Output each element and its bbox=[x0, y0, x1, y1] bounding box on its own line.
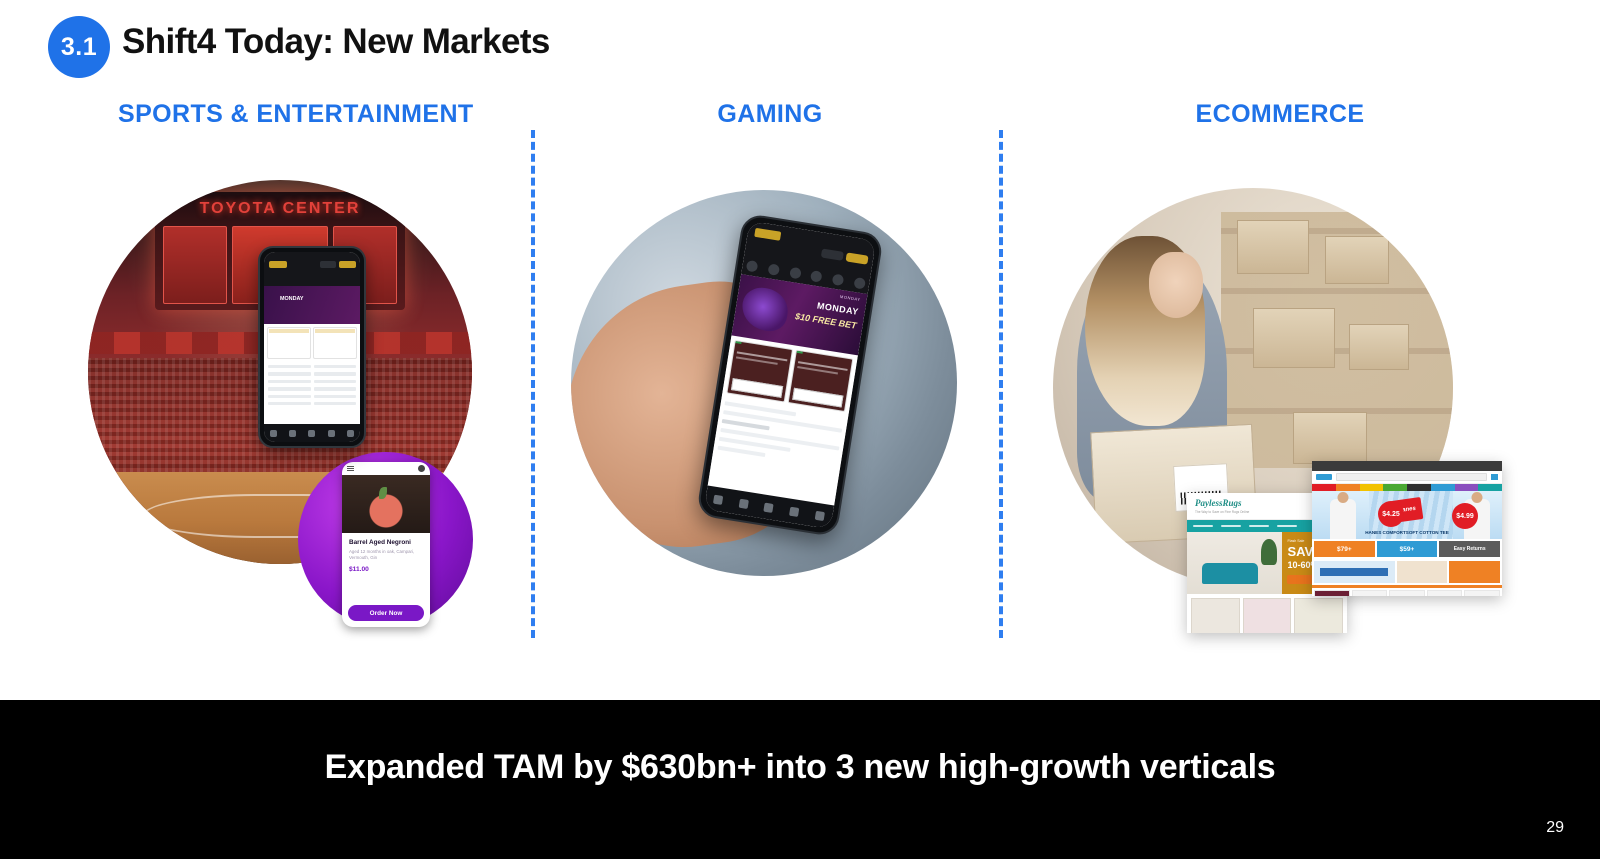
promo-headline: MONDAY bbox=[280, 296, 303, 302]
avatar-icon[interactable] bbox=[418, 465, 425, 472]
product-tile[interactable] bbox=[1427, 590, 1463, 596]
login-button[interactable] bbox=[821, 248, 844, 260]
column-divider-left bbox=[531, 130, 535, 638]
price-badge-left: $4.25 bbox=[1378, 501, 1404, 527]
live-tag bbox=[735, 341, 741, 344]
sport-icon[interactable] bbox=[810, 270, 823, 283]
apparel-logo-icon bbox=[1316, 474, 1332, 480]
nav-item[interactable] bbox=[1277, 525, 1297, 528]
promo-artwork bbox=[739, 285, 791, 334]
section-number-badge: 3.1 bbox=[48, 16, 110, 78]
easy-returns-badge: Easy Returns bbox=[1439, 541, 1500, 557]
product-tile[interactable] bbox=[1389, 590, 1425, 596]
home-icon[interactable] bbox=[270, 430, 277, 437]
bet-button[interactable] bbox=[792, 388, 844, 408]
menu-item[interactable] bbox=[314, 372, 357, 375]
rugs-logo: PaylessRugs bbox=[1195, 498, 1242, 508]
sport-icon[interactable] bbox=[746, 260, 759, 273]
order-app-phone: Barrel Aged Negroni Aged 12 months in oa… bbox=[342, 462, 430, 627]
product-tile[interactable] bbox=[1352, 590, 1388, 596]
sportsbook-screen-secondary: MONDAY bbox=[264, 252, 360, 442]
account-icon[interactable] bbox=[789, 506, 799, 516]
apparel-hero: Hanes $4.25 $4.99 HANES COMFORTSOFT COTT… bbox=[1312, 491, 1502, 539]
sport-icon[interactable] bbox=[767, 263, 780, 276]
sport-icon[interactable] bbox=[853, 277, 866, 290]
bets-icon[interactable] bbox=[764, 502, 774, 512]
list-row bbox=[717, 446, 765, 457]
menu-item[interactable] bbox=[314, 387, 357, 390]
column-heading-gaming: GAMING bbox=[570, 100, 970, 129]
bet-button[interactable] bbox=[731, 378, 783, 398]
rugs-product-tiles bbox=[1187, 594, 1347, 633]
page-title: Shift4 Today: New Markets bbox=[122, 22, 550, 62]
bet-card[interactable] bbox=[787, 350, 853, 412]
nav-item[interactable] bbox=[1407, 484, 1431, 491]
product-tile[interactable] bbox=[1464, 590, 1500, 596]
shipping-box bbox=[1293, 412, 1367, 464]
shipping-box bbox=[1253, 308, 1335, 368]
product-tile[interactable] bbox=[1294, 598, 1343, 633]
nav-item[interactable] bbox=[1455, 484, 1479, 491]
nav-item[interactable] bbox=[1221, 525, 1241, 528]
website-screenshot-apparel: Hanes $4.25 $4.99 HANES COMFORTSOFT COTT… bbox=[1312, 461, 1502, 596]
nav-item[interactable] bbox=[1360, 484, 1384, 491]
cart-icon[interactable] bbox=[1491, 474, 1498, 480]
sport-icon[interactable] bbox=[832, 274, 845, 287]
arena-signage-label: TOYOTA CENTER bbox=[155, 200, 405, 218]
product-tile[interactable] bbox=[1191, 598, 1240, 633]
hero-caption: HANES COMFORTSOFT COTTON TEE bbox=[1312, 530, 1502, 536]
sports-menu bbox=[264, 362, 360, 424]
footer-statement: Expanded TAM by $630bn+ into 3 new high-… bbox=[0, 748, 1600, 787]
slide-footer: Expanded TAM by $630bn+ into 3 new high-… bbox=[0, 700, 1600, 859]
column-heading-sports: SPORTS & ENTERTAINMENT bbox=[60, 100, 520, 129]
bet-cards-secondary bbox=[264, 324, 360, 362]
apparel-product-row bbox=[1312, 585, 1502, 596]
account-icon[interactable] bbox=[328, 430, 335, 437]
plant-graphic bbox=[1261, 539, 1276, 565]
jumbotron-panel bbox=[163, 226, 227, 304]
page-number: 29 bbox=[1546, 819, 1564, 837]
product-tile[interactable] bbox=[1314, 590, 1350, 596]
gaming-photo: MONDAY MONDAY $10 FREE BET bbox=[571, 190, 957, 576]
drink-description: Aged 12 months in oak, Campari, Vermouth… bbox=[349, 549, 423, 561]
nav-item[interactable] bbox=[1249, 525, 1269, 528]
delivery-badge: $59+ bbox=[1377, 541, 1438, 557]
column-divider-right bbox=[999, 130, 1003, 638]
hamburger-icon[interactable] bbox=[347, 466, 354, 471]
rugs-tagline: The Way to Save on Fine Rugs Online bbox=[1195, 510, 1249, 514]
order-now-button[interactable]: Order Now bbox=[348, 605, 424, 621]
promo-tile[interactable] bbox=[1314, 561, 1395, 583]
apparel-value-strip: $79+ $59+ Easy Returns bbox=[1312, 539, 1502, 559]
more-icon[interactable] bbox=[814, 510, 824, 520]
drink-details: Barrel Aged Negroni Aged 12 months in oa… bbox=[342, 533, 430, 598]
signup-button[interactable] bbox=[339, 261, 356, 268]
nav-item[interactable] bbox=[1336, 484, 1360, 491]
menu-item[interactable] bbox=[268, 387, 311, 390]
drink-price: $11.00 bbox=[349, 566, 423, 573]
drink-photo bbox=[342, 475, 430, 533]
live-tag bbox=[796, 351, 802, 354]
bet-card[interactable] bbox=[726, 340, 792, 402]
offers-icon[interactable] bbox=[289, 430, 296, 437]
sportsbook-phone-primary: MONDAY MONDAY $10 FREE BET bbox=[696, 213, 884, 537]
menu-item[interactable] bbox=[314, 380, 357, 383]
rugs-hero-image bbox=[1187, 532, 1282, 594]
shipping-box bbox=[1349, 324, 1409, 370]
login-button[interactable] bbox=[320, 261, 336, 268]
bet-tag bbox=[315, 329, 355, 333]
app-header-secondary bbox=[264, 252, 360, 286]
app-logo-icon bbox=[754, 228, 781, 241]
menu-item[interactable] bbox=[268, 372, 311, 375]
price-badge-right: $4.99 bbox=[1452, 503, 1478, 529]
person-face bbox=[1149, 252, 1203, 318]
more-icon[interactable] bbox=[347, 430, 354, 437]
apparel-promo-row bbox=[1312, 559, 1502, 585]
sport-icon[interactable] bbox=[789, 267, 802, 280]
menu-item[interactable] bbox=[268, 402, 311, 405]
sportsbook-screen: MONDAY MONDAY $10 FREE BET bbox=[704, 221, 876, 529]
menu-item[interactable] bbox=[268, 365, 311, 368]
promo-tile[interactable] bbox=[1449, 561, 1500, 583]
nav-item[interactable] bbox=[1431, 484, 1455, 491]
bet-tag bbox=[269, 329, 309, 333]
app-logo-icon bbox=[269, 261, 287, 268]
bet-card[interactable] bbox=[313, 327, 357, 359]
home-icon[interactable] bbox=[713, 494, 723, 504]
product-tile[interactable] bbox=[1243, 598, 1292, 633]
menu-item[interactable] bbox=[268, 380, 311, 383]
sportsbook-phone-secondary: MONDAY bbox=[258, 246, 366, 448]
nav-item[interactable] bbox=[1478, 484, 1502, 491]
nav-item[interactable] bbox=[1383, 484, 1407, 491]
apparel-site-header bbox=[1312, 471, 1502, 484]
promo-tile[interactable] bbox=[1397, 561, 1448, 583]
promo-banner-secondary[interactable]: MONDAY bbox=[264, 286, 360, 324]
sofa-graphic bbox=[1202, 563, 1257, 584]
offers-icon[interactable] bbox=[739, 498, 749, 508]
slide-header: 3.1 Shift4 Today: New Markets bbox=[0, 0, 1600, 92]
app-top-bar bbox=[342, 462, 430, 475]
menu-item[interactable] bbox=[314, 395, 357, 398]
drink-name: Barrel Aged Negroni bbox=[349, 539, 423, 546]
slide: 3.1 Shift4 Today: New Markets SPORTS & E… bbox=[0, 0, 1600, 859]
bets-icon[interactable] bbox=[308, 430, 315, 437]
bet-card[interactable] bbox=[267, 327, 311, 359]
shipping-box bbox=[1325, 236, 1389, 284]
mobile-order-overlay: Barrel Aged Negroni Aged 12 months in oa… bbox=[298, 452, 473, 627]
menu-item[interactable] bbox=[268, 395, 311, 398]
menu-item[interactable] bbox=[314, 402, 357, 405]
free-shipping-badge: $79+ bbox=[1314, 541, 1375, 557]
column-heading-ecommerce: ECOMMERCE bbox=[1020, 100, 1540, 129]
shipping-box bbox=[1237, 220, 1309, 274]
signup-button[interactable] bbox=[845, 252, 868, 264]
apparel-category-nav bbox=[1312, 484, 1502, 491]
menu-item[interactable] bbox=[314, 365, 357, 368]
browser-chrome bbox=[1312, 461, 1502, 471]
search-input[interactable] bbox=[1336, 473, 1487, 481]
nav-item[interactable] bbox=[1193, 525, 1213, 528]
nav-item[interactable] bbox=[1312, 484, 1336, 491]
bottom-nav-secondary bbox=[264, 424, 360, 442]
promo-eyebrow: MONDAY bbox=[840, 294, 861, 302]
